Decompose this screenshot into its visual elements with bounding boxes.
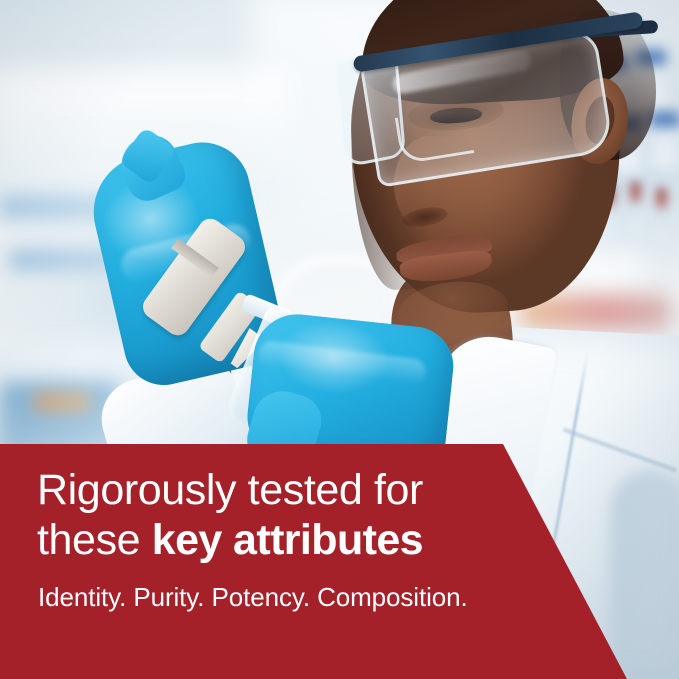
headline-line-2: these key attributes (37, 515, 557, 565)
promo-image-canvas: Rigorously tested for these key attribut… (0, 0, 679, 679)
headline-line-1: Rigorously tested for (37, 465, 557, 515)
banner-subline: Identity. Purity. Potency. Composition. (38, 581, 557, 613)
lab-coat-fold (610, 470, 679, 679)
banner-text-block: Rigorously tested for these key attribut… (37, 465, 557, 613)
headline-bold-part: key attributes (152, 516, 423, 564)
headline-regular-part: these (37, 516, 152, 564)
